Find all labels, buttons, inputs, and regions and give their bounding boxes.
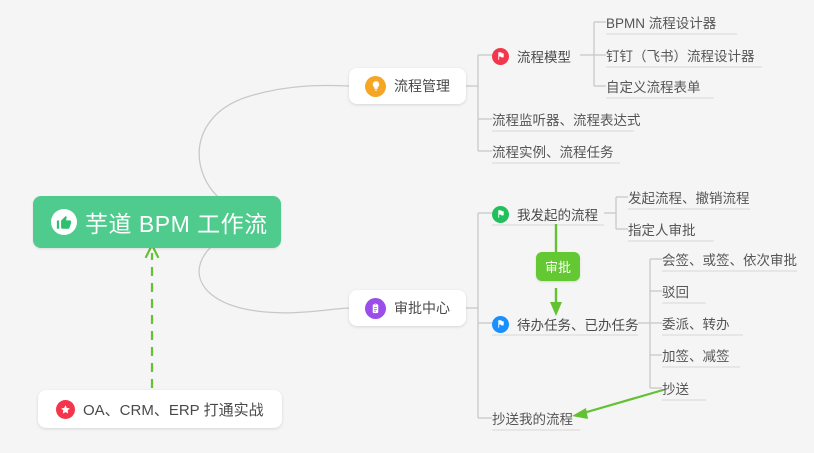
- leaf-cc[interactable]: 抄送: [654, 378, 697, 403]
- branch-process-management[interactable]: 流程管理: [349, 68, 466, 104]
- flag-icon: [492, 316, 509, 333]
- thumbs-up-icon: [51, 209, 77, 235]
- dashed-arrow-to-root: [146, 245, 158, 388]
- leaf-add-remove-sign[interactable]: 加签、减签: [654, 345, 738, 370]
- node-todo-done-tasks[interactable]: 待办任务、已办任务: [492, 314, 639, 339]
- branch-label: 审批中心: [394, 298, 450, 318]
- branch-label: 流程管理: [394, 76, 450, 96]
- root-node[interactable]: 芋道 BPM 工作流: [33, 196, 281, 248]
- node-label: 流程模型: [517, 46, 571, 66]
- node-process-model[interactable]: 流程模型: [492, 46, 571, 71]
- node-label: 我发起的流程: [517, 204, 598, 224]
- root-label: 芋道 BPM 工作流: [85, 205, 268, 239]
- bottom-note-card[interactable]: OA、CRM、ERP 打通实战: [38, 390, 282, 428]
- cc-flow-arrow: [572, 390, 663, 419]
- leaf-bpmn-designer[interactable]: BPMN 流程设计器: [598, 12, 724, 37]
- flag-icon: [492, 206, 509, 223]
- leaf-countersign[interactable]: 会签、或签、依次审批: [654, 249, 805, 274]
- leaf-dingtalk-designer[interactable]: 钉钉（飞书）流程设计器: [598, 45, 763, 70]
- approval-badge[interactable]: 审批: [536, 252, 580, 281]
- clipboard-icon: [365, 298, 386, 319]
- node-label: 待办任务、已办任务: [517, 314, 639, 334]
- leaf-delegate-transfer[interactable]: 委派、转办: [654, 313, 738, 338]
- mindmap-canvas: 芋道 BPM 工作流 流程管理 流程模型 BPMN 流程设计器 钉钉（飞书）流程…: [0, 0, 814, 453]
- flag-icon: [492, 48, 509, 65]
- bottom-note-label: OA、CRM、ERP 打通实战: [83, 399, 264, 420]
- leaf-instance-task[interactable]: 流程实例、流程任务: [484, 141, 622, 166]
- leaf-custom-form[interactable]: 自定义流程表单: [598, 76, 709, 101]
- leaf-assignee-approval[interactable]: 指定人审批: [620, 219, 704, 244]
- leaf-reject[interactable]: 驳回: [654, 281, 697, 306]
- branch-approval-center[interactable]: 审批中心: [349, 290, 466, 326]
- lightbulb-icon: [365, 76, 386, 97]
- star-icon: [56, 400, 75, 419]
- node-my-initiated[interactable]: 我发起的流程: [492, 204, 598, 229]
- leaf-listener-expression[interactable]: 流程监听器、流程表达式: [484, 109, 649, 134]
- leaf-cc-to-me[interactable]: 抄送我的流程: [484, 408, 581, 433]
- leaf-start-cancel-process[interactable]: 发起流程、撤销流程: [620, 187, 758, 212]
